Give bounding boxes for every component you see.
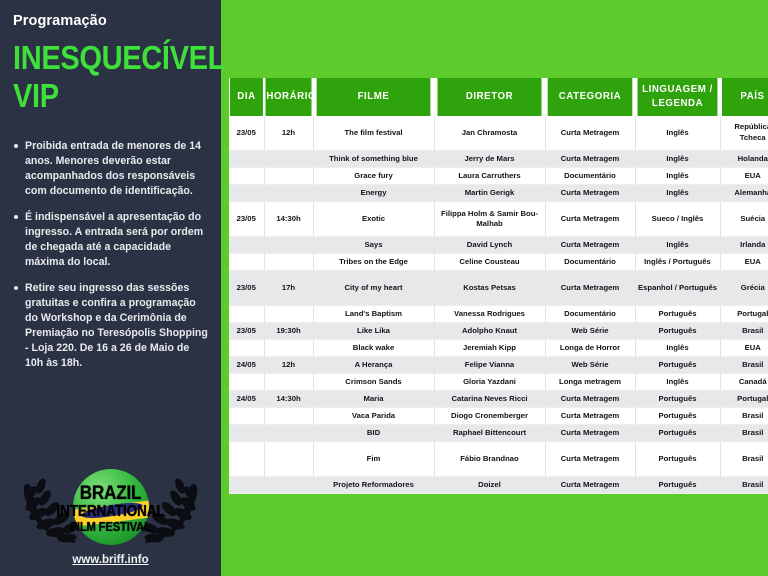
cell-pais: EUA xyxy=(720,254,768,271)
cell-categoria: Longa de Horror xyxy=(545,340,635,357)
cell-filme: Exotic xyxy=(313,202,434,237)
cell-linguagem: Inglês xyxy=(635,340,720,357)
schedule-table: DIA HORÁRIO FILME DIRETOR CATEGORIA LING… xyxy=(229,78,768,494)
table-row: 23/0512hThe film festivalJan ChramostaCu… xyxy=(229,116,768,151)
cell-filme: City of my heart xyxy=(313,271,434,306)
logo-line-3: FILM FESTIVAL xyxy=(23,521,199,534)
cell-horario xyxy=(264,340,313,357)
cell-filme: Maria xyxy=(313,391,434,408)
table-row: Projeto ReformadoresDoizelCurta Metragem… xyxy=(229,477,768,494)
cell-pais: República Tcheca xyxy=(720,116,768,151)
cell-pais: Brasil xyxy=(720,477,768,494)
cell-dia xyxy=(229,185,264,202)
col-header-categoria: CATEGORIA xyxy=(548,78,633,116)
cell-pais: Portugal xyxy=(720,306,768,323)
cell-categoria: Web Série xyxy=(545,323,635,340)
table-body: 23/0512hThe film festivalJan ChramostaCu… xyxy=(229,116,768,494)
cell-pais: Brasil xyxy=(720,442,768,477)
cell-horario xyxy=(264,151,313,168)
cell-linguagem: Português xyxy=(635,477,720,494)
cell-filme: Fim xyxy=(313,442,434,477)
cell-dia xyxy=(229,306,264,323)
cell-linguagem: Português xyxy=(635,442,720,477)
cell-dia: 24/05 xyxy=(229,357,264,374)
table-row: Think of something blueJerry de MarsCurt… xyxy=(229,151,768,168)
cell-linguagem: Português xyxy=(635,323,720,340)
cell-diretor: Catarina Neves Ricci xyxy=(434,391,545,408)
cell-filme: Grace fury xyxy=(313,168,434,185)
cell-categoria: Documentário xyxy=(545,254,635,271)
cell-horario xyxy=(264,185,313,202)
table-row: 23/0517hCity of my heartKostas PetsasCur… xyxy=(229,271,768,306)
cell-filme: Energy xyxy=(313,185,434,202)
cell-diretor: Jeremiah Kipp xyxy=(434,340,545,357)
cell-linguagem: Inglês xyxy=(635,374,720,391)
cell-dia xyxy=(229,340,264,357)
table-row: EnergyMartin GerigkCurta MetragemInglêsA… xyxy=(229,185,768,202)
table-row: Tribes on the EdgeCeline CousteauDocumen… xyxy=(229,254,768,271)
cell-diretor: Celine Cousteau xyxy=(434,254,545,271)
cell-pais: Holanda xyxy=(720,151,768,168)
cell-categoria: Curta Metragem xyxy=(545,271,635,306)
cell-horario xyxy=(264,237,313,254)
table-row: 24/0514:30hMariaCatarina Neves RicciCurt… xyxy=(229,391,768,408)
cell-horario xyxy=(264,306,313,323)
cell-dia: 23/05 xyxy=(229,116,264,151)
cell-filme: Like Lika xyxy=(313,323,434,340)
cell-categoria: Longa metragem xyxy=(545,374,635,391)
cell-horario: 17h xyxy=(264,271,313,306)
cell-dia: 23/05 xyxy=(229,271,264,306)
left-info-panel: Programação INESQUECÍVEL VIP Proibida en… xyxy=(0,0,221,576)
cell-pais: Portugal xyxy=(720,391,768,408)
cell-filme: BID xyxy=(313,425,434,442)
cell-horario: 19:30h xyxy=(264,323,313,340)
cell-categoria: Curta Metragem xyxy=(545,391,635,408)
table-head: DIA HORÁRIO FILME DIRETOR CATEGORIA LING… xyxy=(229,78,768,116)
cell-linguagem: Português xyxy=(635,357,720,374)
cell-categoria: Curta Metragem xyxy=(545,425,635,442)
cell-horario xyxy=(264,477,313,494)
cell-dia: 24/05 xyxy=(229,391,264,408)
cell-dia xyxy=(229,425,264,442)
cell-categoria: Curta Metragem xyxy=(545,237,635,254)
cell-filme: Vaca Parida xyxy=(313,408,434,425)
cell-dia xyxy=(229,477,264,494)
table-row: 23/0519:30hLike LikaAdolpho KnautWeb Sér… xyxy=(229,323,768,340)
cell-linguagem: Inglês / Português xyxy=(635,254,720,271)
cell-dia: 23/05 xyxy=(229,202,264,237)
cell-horario xyxy=(264,168,313,185)
cell-linguagem: Inglês xyxy=(635,185,720,202)
headline-line-1: INESQUECÍVEL xyxy=(13,42,185,73)
col-header-filme: FILME xyxy=(317,78,431,116)
cell-diretor: Felipe Vianna xyxy=(434,357,545,374)
cell-diretor: Gloria Yazdani xyxy=(434,374,545,391)
cell-categoria: Curta Metragem xyxy=(545,442,635,477)
cell-dia xyxy=(229,374,264,391)
cell-dia xyxy=(229,237,264,254)
table-row: FimFábio BrandnaoCurta MetragemPortuguês… xyxy=(229,442,768,477)
cell-diretor: Fábio Brandnao xyxy=(434,442,545,477)
cell-categoria: Curta Metragem xyxy=(545,116,635,151)
cell-horario: 12h xyxy=(264,116,313,151)
cell-diretor: Vanessa Rodrigues xyxy=(434,306,545,323)
cell-pais: Brasil xyxy=(720,425,768,442)
cell-linguagem: Inglês xyxy=(635,116,720,151)
headline-line-2: VIP xyxy=(13,80,185,111)
table-row: SaysDavid LynchCurta MetragemInglêsIrlan… xyxy=(229,237,768,254)
table-row: Grace furyLaura CarruthersDocumentárioIn… xyxy=(229,168,768,185)
cell-dia: 23/05 xyxy=(229,323,264,340)
cell-dia xyxy=(229,442,264,477)
cell-diretor: Doizel xyxy=(434,477,545,494)
cell-linguagem: Espanhol / Português xyxy=(635,271,720,306)
cell-categoria: Web Série xyxy=(545,357,635,374)
cell-pais: Canadá xyxy=(720,374,768,391)
cell-categoria: Curta Metragem xyxy=(545,185,635,202)
cell-filme: Projeto Reformadores xyxy=(313,477,434,494)
cell-horario xyxy=(264,425,313,442)
cell-diretor: Adolpho Knaut xyxy=(434,323,545,340)
cell-pais: Brasil xyxy=(720,323,768,340)
col-header-horario: HORÁRIO xyxy=(265,78,311,116)
cell-horario: 12h xyxy=(264,357,313,374)
website-url[interactable]: www.briff.info xyxy=(13,554,208,566)
notes-list: Proibida entrada de menores de 14 anos. … xyxy=(13,139,208,371)
cell-filme: The film festival xyxy=(313,116,434,151)
festival-logo: BRAZIL INTERNATIONAL FILM FESTIVAL www.b… xyxy=(13,467,208,566)
table-row: BIDRaphael BittencourtCurta MetragemPort… xyxy=(229,425,768,442)
cell-diretor: David Lynch xyxy=(434,237,545,254)
cell-dia xyxy=(229,254,264,271)
cell-horario xyxy=(264,254,313,271)
cell-horario: 14:30h xyxy=(264,202,313,237)
cell-categoria: Documentário xyxy=(545,306,635,323)
cell-categoria: Curta Metragem xyxy=(545,477,635,494)
cell-pais: EUA xyxy=(720,168,768,185)
col-header-linguagem: LINGUAGEM / LEGENDA xyxy=(638,78,718,116)
logo-line-1: BRAZIL xyxy=(23,484,199,503)
cell-categoria: Curta Metragem xyxy=(545,408,635,425)
logo-line-2: INTERNATIONAL xyxy=(25,504,197,520)
cell-diretor: Jan Chramosta xyxy=(434,116,545,151)
cell-filme: Tribes on the Edge xyxy=(313,254,434,271)
list-item: Proibida entrada de menores de 14 anos. … xyxy=(13,139,208,199)
col-header-dia: DIA xyxy=(230,78,263,116)
col-header-diretor: DIRETOR xyxy=(437,78,541,116)
table-row: 24/0512hA HerançaFelipe ViannaWeb SérieP… xyxy=(229,357,768,374)
table-header-row: DIA HORÁRIO FILME DIRETOR CATEGORIA LING… xyxy=(229,78,768,116)
cell-diretor: Diogo Cronemberger xyxy=(434,408,545,425)
cell-dia xyxy=(229,151,264,168)
cell-categoria: Curta Metragem xyxy=(545,151,635,168)
cell-pais: EUA xyxy=(720,340,768,357)
table-row: Crimson SandsGloria YazdaniLonga metrage… xyxy=(229,374,768,391)
table-row: 23/0514:30hExoticFilippa Holm & Samir Bo… xyxy=(229,202,768,237)
cell-diretor: Jerry de Mars xyxy=(434,151,545,168)
cell-linguagem: Inglês xyxy=(635,151,720,168)
cell-diretor: Raphael Bittencourt xyxy=(434,425,545,442)
cell-linguagem: Português xyxy=(635,306,720,323)
cell-filme: Think of something blue xyxy=(313,151,434,168)
cell-pais: Suécia xyxy=(720,202,768,237)
cell-horario xyxy=(264,442,313,477)
cell-pais: Brasil xyxy=(720,357,768,374)
cell-diretor: Martin Gerigk xyxy=(434,185,545,202)
cell-diretor: Filippa Holm & Samir Bou-Malhab xyxy=(434,202,545,237)
kicker-text: Programação xyxy=(13,14,208,30)
cell-pais: Brasil xyxy=(720,408,768,425)
cell-dia xyxy=(229,408,264,425)
cell-linguagem: Português xyxy=(635,391,720,408)
poster-canvas: Programação INESQUECÍVEL VIP Proibida en… xyxy=(0,0,768,576)
cell-filme: Land's Baptism xyxy=(313,306,434,323)
list-item: É indispensável a apresentação do ingres… xyxy=(13,210,208,270)
cell-filme: A Herança xyxy=(313,357,434,374)
table-row: Land's BaptismVanessa RodriguesDocumentá… xyxy=(229,306,768,323)
cell-horario xyxy=(264,374,313,391)
cell-dia xyxy=(229,168,264,185)
cell-linguagem: Português xyxy=(635,425,720,442)
schedule-table-wrapper: DIA HORÁRIO FILME DIRETOR CATEGORIA LING… xyxy=(229,78,761,494)
cell-pais: Grécia xyxy=(720,271,768,306)
cell-diretor: Laura Carruthers xyxy=(434,168,545,185)
cell-pais: Alemanha xyxy=(720,185,768,202)
col-header-pais: PAÍS xyxy=(722,78,768,116)
cell-linguagem: Português xyxy=(635,408,720,425)
cell-diretor: Kostas Petsas xyxy=(434,271,545,306)
cell-categoria: Documentário xyxy=(545,168,635,185)
cell-linguagem: Sueco / Inglês xyxy=(635,202,720,237)
cell-categoria: Curta Metragem xyxy=(545,202,635,237)
cell-filme: Crimson Sands xyxy=(313,374,434,391)
logo-badge: BRAZIL INTERNATIONAL FILM FESTIVAL xyxy=(13,467,208,552)
cell-filme: Black wake xyxy=(313,340,434,357)
cell-linguagem: Inglês xyxy=(635,168,720,185)
list-item: Retire seu ingresso das sessões gratuita… xyxy=(13,281,208,371)
table-row: Black wakeJeremiah KippLonga de HorrorIn… xyxy=(229,340,768,357)
cell-horario: 14:30h xyxy=(264,391,313,408)
cell-linguagem: Inglês xyxy=(635,237,720,254)
table-row: Vaca ParidaDiogo CronembergerCurta Metra… xyxy=(229,408,768,425)
cell-horario xyxy=(264,408,313,425)
cell-pais: Irlanda xyxy=(720,237,768,254)
cell-filme: Says xyxy=(313,237,434,254)
